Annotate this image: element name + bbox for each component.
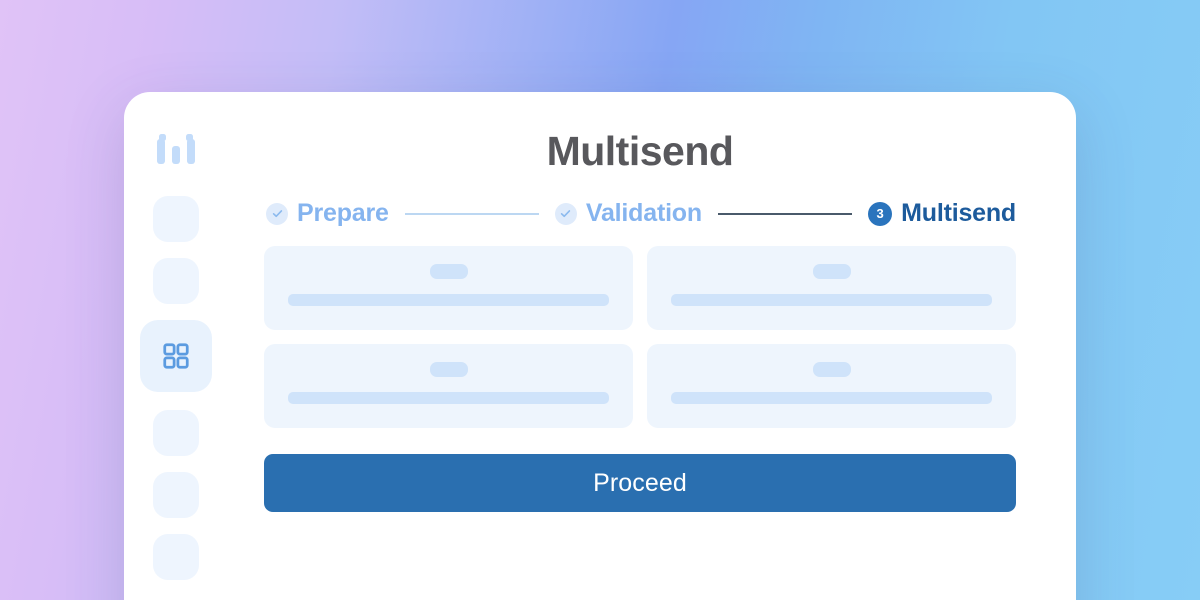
stepper: Prepare Validation 3 Multisend [264,199,1016,228]
skeleton-card [264,344,633,428]
check-icon [555,203,577,225]
main-content: Multisend Prepare [228,92,1076,600]
step-connector-1 [405,213,539,215]
skeleton-bar [671,294,992,306]
sidebar-item-placeholder-2[interactable] [153,258,199,304]
step-number-badge: 3 [868,202,892,226]
sidebar-item-placeholder-1[interactable] [153,196,199,242]
app-logo-icon[interactable] [152,126,200,174]
skeleton-bar [671,392,992,404]
skeleton-pill [813,264,851,279]
step-multisend[interactable]: 3 Multisend [868,199,1016,228]
skeleton-card [264,246,633,330]
sidebar-item-multisend[interactable] [140,320,212,392]
app-window: Multisend Prepare [124,92,1076,600]
page-background: Multisend Prepare [0,0,1200,600]
step-label-validation: Validation [586,199,702,228]
skeleton-grid [264,246,1016,428]
proceed-button[interactable]: Proceed [264,454,1016,512]
skeleton-pill [430,362,468,377]
sidebar-item-placeholder-4[interactable] [153,472,199,518]
sidebar [124,92,228,600]
skeleton-pill [430,264,468,279]
grid-icon [161,341,191,371]
skeleton-bar [288,392,609,404]
skeleton-card [647,246,1016,330]
check-icon [266,203,288,225]
sidebar-item-placeholder-5[interactable] [153,534,199,580]
step-connector-2 [718,213,852,215]
step-label-prepare: Prepare [297,199,389,228]
skeleton-card [647,344,1016,428]
step-label-multisend: Multisend [901,199,1016,228]
skeleton-bar [288,294,609,306]
page-title: Multisend [264,92,1016,175]
step-validation[interactable]: Validation [555,199,702,228]
skeleton-pill [813,362,851,377]
sidebar-item-placeholder-3[interactable] [153,410,199,456]
step-prepare[interactable]: Prepare [266,199,389,228]
